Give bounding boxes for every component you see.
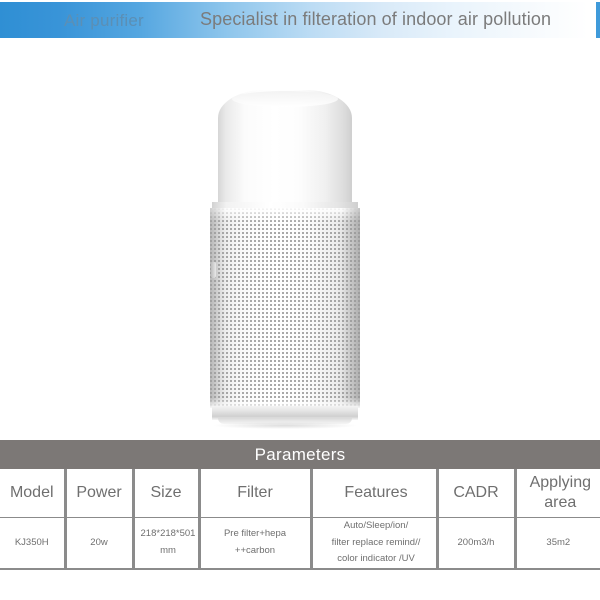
- cell-filter-line1: Pre filter+hepa: [224, 528, 286, 539]
- table-header-row: Model Power Size Filter Features CADR Ap…: [0, 469, 600, 518]
- column-header-cadr-label: CADR: [439, 483, 514, 503]
- product-image-area: [0, 38, 600, 438]
- parameters-table: Parameters Model Power Size Filter Featu…: [0, 440, 600, 570]
- mesh-left-shading: [210, 208, 226, 408]
- column-header-features: Features: [311, 469, 437, 518]
- cap-highlight: [232, 91, 338, 107]
- purifier-drop-shadow: [214, 422, 356, 429]
- cell-applying-area: 35m2: [515, 518, 600, 570]
- parameters-table-wrap: Parameters Model Power Size Filter Featu…: [0, 440, 600, 570]
- cell-power-value: 20w: [90, 537, 107, 548]
- cell-features-line3: color indicator /UV: [337, 553, 415, 564]
- cell-model: KJ350H: [0, 518, 65, 570]
- cell-size-line2: mm: [160, 545, 176, 556]
- tagline-label: Specialist in filteration of indoor air …: [200, 9, 551, 30]
- table-row: KJ350H 20w 218*218*501 mm Pre filter+hep…: [0, 518, 600, 570]
- column-header-power: Power: [65, 469, 133, 518]
- cell-features-line2: filter replace remind//: [332, 537, 421, 548]
- cell-model-value: KJ350H: [15, 537, 49, 548]
- cell-size: 218*218*501 mm: [133, 518, 199, 570]
- cell-filter-line2: ++carbon: [235, 545, 275, 556]
- mesh-top-fade: [210, 208, 360, 222]
- column-header-cadr: CADR: [437, 469, 515, 518]
- column-header-power-label: Power: [67, 483, 132, 503]
- purifier-side-latch: [211, 262, 216, 278]
- air-purifier-illustration: [206, 90, 364, 438]
- cell-cadr-value: 200m3/h: [458, 537, 495, 548]
- column-header-filter-label: Filter: [201, 483, 310, 503]
- cell-size-line1: 218*218*501: [141, 528, 196, 539]
- page-banner: Air purifier Specialist in filteration o…: [0, 2, 600, 38]
- brand-label: Air purifier: [64, 11, 144, 31]
- table-title: Parameters: [0, 440, 600, 469]
- column-header-size-label: Size: [135, 483, 198, 503]
- cell-applying-area-value: 35m2: [546, 537, 570, 548]
- cell-power: 20w: [65, 518, 133, 570]
- cell-features-line1: Auto/Sleep/ion/: [344, 520, 408, 531]
- column-header-applying-area: Applying area: [515, 469, 600, 518]
- column-header-features-label: Features: [317, 483, 436, 503]
- purifier-top-cap: [218, 90, 352, 208]
- cell-cadr: 200m3/h: [437, 518, 515, 570]
- table-title-row: Parameters: [0, 440, 600, 469]
- mesh-right-shading: [342, 208, 360, 408]
- purifier-mesh-body: [210, 208, 360, 408]
- column-header-filter: Filter: [199, 469, 311, 518]
- column-header-model-label: Model: [0, 483, 64, 503]
- cell-filter: Pre filter+hepa ++carbon: [199, 518, 311, 570]
- column-header-model: Model: [0, 469, 65, 518]
- banner-end-accent-bar: [596, 2, 600, 38]
- column-header-applying-area-label: Applying area: [521, 473, 600, 513]
- cell-features: Auto/Sleep/ion/ filter replace remind// …: [311, 518, 437, 570]
- column-header-size: Size: [133, 469, 199, 518]
